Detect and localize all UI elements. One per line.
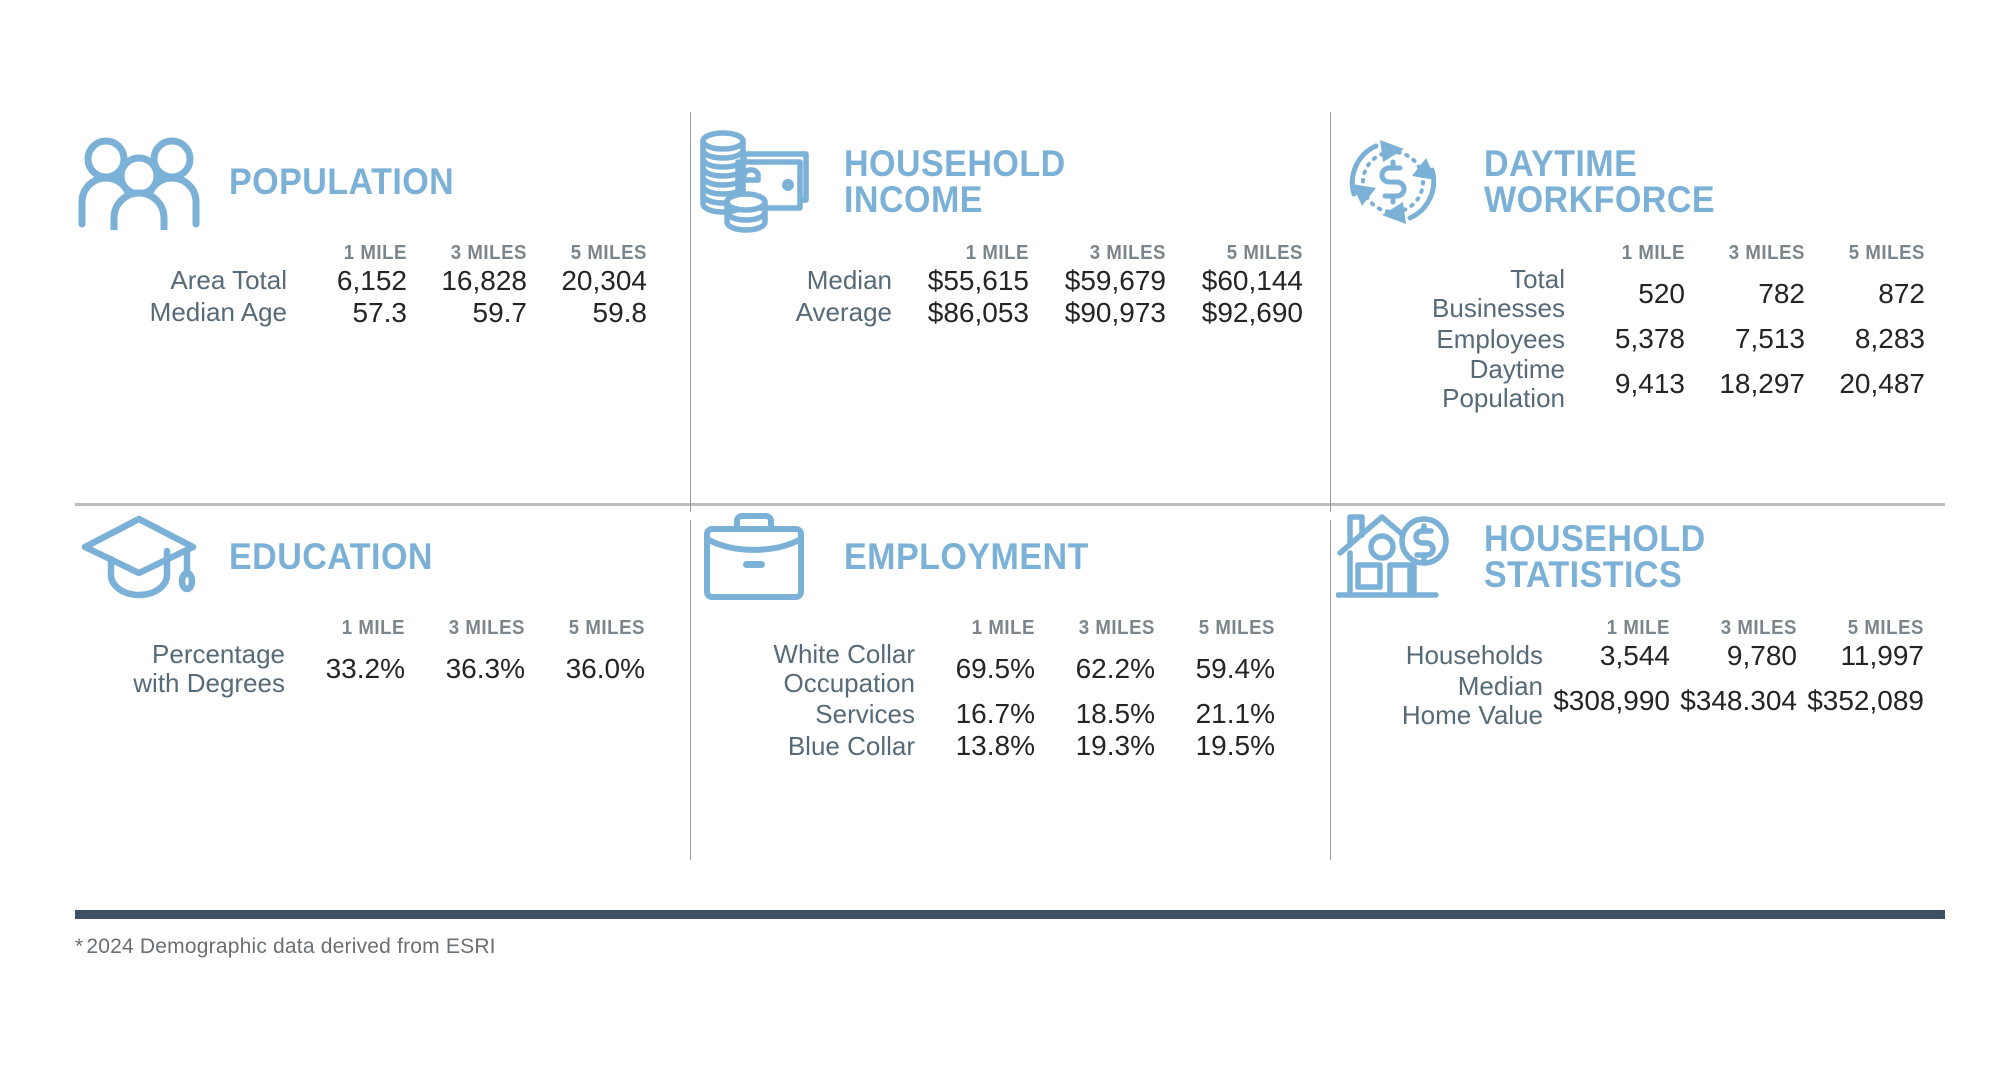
panel-title-household-income: HOUSEHOLD INCOME	[844, 146, 1066, 219]
column-header-1-mile: 1 MILE	[1552, 617, 1670, 640]
row-value: 3,544	[1543, 640, 1670, 672]
row-value: 57.3	[287, 297, 407, 329]
row-value: 782	[1685, 265, 1805, 323]
column-header-row: 1 MILE 3 MILES 5 MILES	[1370, 242, 1925, 265]
column-header-1-mile: 1 MILE	[923, 617, 1035, 640]
panel-education: EDUCATION 1 MILE 3 MILES 5 MILES Percent…	[75, 503, 690, 868]
panel-household-statistics: HOUSEHOLD STATISTICS 1 MILE 3 MILES 5 MI…	[1330, 503, 1945, 868]
row-label: White Collar Occupation	[720, 640, 915, 698]
data-table-education: 1 MILE 3 MILES 5 MILES Percentage with D…	[85, 617, 645, 698]
row-value: 18,297	[1685, 355, 1805, 413]
column-header-3-miles: 3 MILES	[1039, 242, 1166, 265]
table-row: Blue Collar 13.8% 19.3% 19.5%	[720, 730, 1275, 762]
column-header-5-miles: 5 MILES	[1163, 617, 1275, 640]
column-header-row: 1 MILE 3 MILES 5 MILES	[87, 242, 647, 265]
column-header-row: 1 MILE 3 MILES 5 MILES	[742, 242, 1303, 265]
row-value: 62.2%	[1035, 640, 1155, 698]
row-value: 16,828	[407, 265, 527, 297]
column-header-3-miles: 3 MILES	[413, 617, 525, 640]
footnote-asterisk: *	[75, 935, 83, 958]
row-label: Median Home Value	[1368, 672, 1543, 730]
column-header-5-miles: 5 MILES	[1806, 617, 1924, 640]
panel-daytime-workforce: DAYTIME WORKFORCE 1 MILE 3 MILES 5 MILES…	[1330, 128, 1945, 503]
table-row: Percentage with Degrees 33.2% 36.3% 36.0…	[85, 640, 645, 698]
row-value: $352,089	[1797, 672, 1924, 730]
column-header-1-mile: 1 MILE	[902, 242, 1029, 265]
row-value: 33.2%	[285, 640, 405, 698]
column-header-5-miles: 5 MILES	[1813, 242, 1925, 265]
panel-employment: EMPLOYMENT 1 MILE 3 MILES 5 MILES White …	[690, 503, 1330, 868]
column-header-1-mile: 1 MILE	[293, 617, 405, 640]
data-table-employment: 1 MILE 3 MILES 5 MILES White Collar Occu…	[720, 617, 1275, 762]
row-label: Services	[720, 698, 915, 730]
row-value: 16.7%	[915, 698, 1035, 730]
data-table-household-income: 1 MILE 3 MILES 5 MILES Median $55,615 $5…	[742, 242, 1303, 329]
panel-grid: POPULATION 1 MILE 3 MILES 5 MILES Area T…	[75, 128, 1945, 868]
row-value: 872	[1805, 265, 1925, 323]
row-value: 59.8	[527, 297, 647, 329]
table-row: Employees 5,378 7,513 8,283	[1370, 323, 1925, 355]
row-value: 520	[1565, 265, 1685, 323]
people-group-icon	[75, 130, 203, 234]
row-label: Median	[742, 265, 892, 297]
table-row: Area Total 6,152 16,828 20,304	[87, 265, 647, 297]
row-value: 7,513	[1685, 323, 1805, 355]
panel-header-employment: EMPLOYMENT	[690, 503, 1330, 611]
demographics-infographic: POPULATION 1 MILE 3 MILES 5 MILES Area T…	[0, 0, 2000, 1080]
row-label: Households	[1368, 640, 1543, 672]
column-header-3-miles: 3 MILES	[1679, 617, 1797, 640]
panel-title-population: POPULATION	[229, 164, 454, 200]
column-header-3-miles: 3 MILES	[1043, 617, 1155, 640]
row-value: 59.4%	[1155, 640, 1275, 698]
row-value: 20,304	[527, 265, 647, 297]
table-row: Median Home Value $308,990 $348.304 $352…	[1368, 672, 1924, 730]
dollar-refresh-cycle-icon	[1330, 130, 1458, 234]
row-value: $348.304	[1670, 672, 1797, 730]
table-row: Daytime Population 9,413 18,297 20,487	[1370, 355, 1925, 413]
table-row: Services 16.7% 18.5% 21.1%	[720, 698, 1275, 730]
row-value: 18.5%	[1035, 698, 1155, 730]
row-value: 20,487	[1805, 355, 1925, 413]
row-value: 19.3%	[1035, 730, 1155, 762]
panel-population: POPULATION 1 MILE 3 MILES 5 MILES Area T…	[75, 128, 690, 503]
data-table-population: 1 MILE 3 MILES 5 MILES Area Total 6,152 …	[87, 242, 647, 329]
panel-header-household-income: HOUSEHOLD INCOME	[690, 128, 1330, 236]
row-value: $60,144	[1166, 265, 1303, 297]
column-header-5-miles: 5 MILES	[533, 617, 645, 640]
row-label: Average	[742, 297, 892, 329]
row-value: 19.5%	[1155, 730, 1275, 762]
column-header-1-mile: 1 MILE	[1573, 242, 1685, 265]
table-row: Median $55,615 $59,679 $60,144	[742, 265, 1303, 297]
column-header-row: 1 MILE 3 MILES 5 MILES	[85, 617, 645, 640]
panel-header-household-statistics: HOUSEHOLD STATISTICS	[1330, 503, 1945, 611]
panel-household-income: HOUSEHOLD INCOME 1 MILE 3 MILES 5 MILES …	[690, 128, 1330, 503]
row-value: 69.5%	[915, 640, 1035, 698]
row-label: Employees	[1370, 323, 1565, 355]
panel-header-education: EDUCATION	[75, 503, 690, 611]
column-header-3-miles: 3 MILES	[1693, 242, 1805, 265]
panel-title-household-statistics: HOUSEHOLD STATISTICS	[1484, 521, 1706, 594]
column-header-row: 1 MILE 3 MILES 5 MILES	[720, 617, 1275, 640]
row-value: 8,283	[1805, 323, 1925, 355]
row-value: 11,997	[1797, 640, 1924, 672]
column-header-5-miles: 5 MILES	[1176, 242, 1303, 265]
panel-title-employment: EMPLOYMENT	[844, 539, 1089, 575]
row-value: 21.1%	[1155, 698, 1275, 730]
data-table-daytime-workforce: 1 MILE 3 MILES 5 MILES Total Businesses …	[1370, 242, 1925, 413]
table-row: Total Businesses 520 782 872	[1370, 265, 1925, 323]
table-row: Average $86,053 $90,973 $92,690	[742, 297, 1303, 329]
row-label: Blue Collar	[720, 730, 915, 762]
footnote-text: 2024 Demographic data derived from ESRI	[86, 935, 495, 958]
data-table-household-statistics: 1 MILE 3 MILES 5 MILES Households 3,544 …	[1368, 617, 1924, 730]
row-value: $308,990	[1543, 672, 1670, 730]
panel-header-daytime-workforce: DAYTIME WORKFORCE	[1330, 128, 1945, 236]
row-value: $55,615	[892, 265, 1029, 297]
row-value: $59,679	[1029, 265, 1166, 297]
row-value: 5,378	[1565, 323, 1685, 355]
house-dollar-icon	[1330, 505, 1458, 609]
panel-title-education: EDUCATION	[229, 539, 433, 575]
column-header-5-miles: 5 MILES	[535, 242, 647, 265]
footnote: *2024 Demographic data derived from ESRI	[75, 935, 496, 959]
row-value: 59.7	[407, 297, 527, 329]
row-label: Percentage with Degrees	[85, 640, 285, 698]
row-label: Daytime Population	[1370, 355, 1565, 413]
row-label: Median Age	[87, 297, 287, 329]
row-value: 36.0%	[525, 640, 645, 698]
row-value: 36.3%	[405, 640, 525, 698]
row-label: Area Total	[87, 265, 287, 297]
graduation-cap-icon	[75, 505, 203, 609]
column-header-3-miles: 3 MILES	[415, 242, 527, 265]
row-value: 9,780	[1670, 640, 1797, 672]
row-value: $90,973	[1029, 297, 1166, 329]
column-header-row: 1 MILE 3 MILES 5 MILES	[1368, 617, 1924, 640]
row-label: Total Businesses	[1370, 265, 1565, 323]
column-header-1-mile: 1 MILE	[295, 242, 407, 265]
row-value: 6,152	[287, 265, 407, 297]
row-value: 13.8%	[915, 730, 1035, 762]
briefcase-icon	[690, 505, 818, 609]
row-value: 9,413	[1565, 355, 1685, 413]
row-value: $86,053	[892, 297, 1029, 329]
coins-cash-icon	[690, 130, 818, 234]
footer-rule	[75, 910, 1945, 919]
table-row: Households 3,544 9,780 11,997	[1368, 640, 1924, 672]
panel-title-daytime-workforce: DAYTIME WORKFORCE	[1484, 146, 1715, 219]
table-row: White Collar Occupation 69.5% 62.2% 59.4…	[720, 640, 1275, 698]
panel-header-population: POPULATION	[75, 128, 690, 236]
row-value: $92,690	[1166, 297, 1303, 329]
table-row: Median Age 57.3 59.7 59.8	[87, 297, 647, 329]
